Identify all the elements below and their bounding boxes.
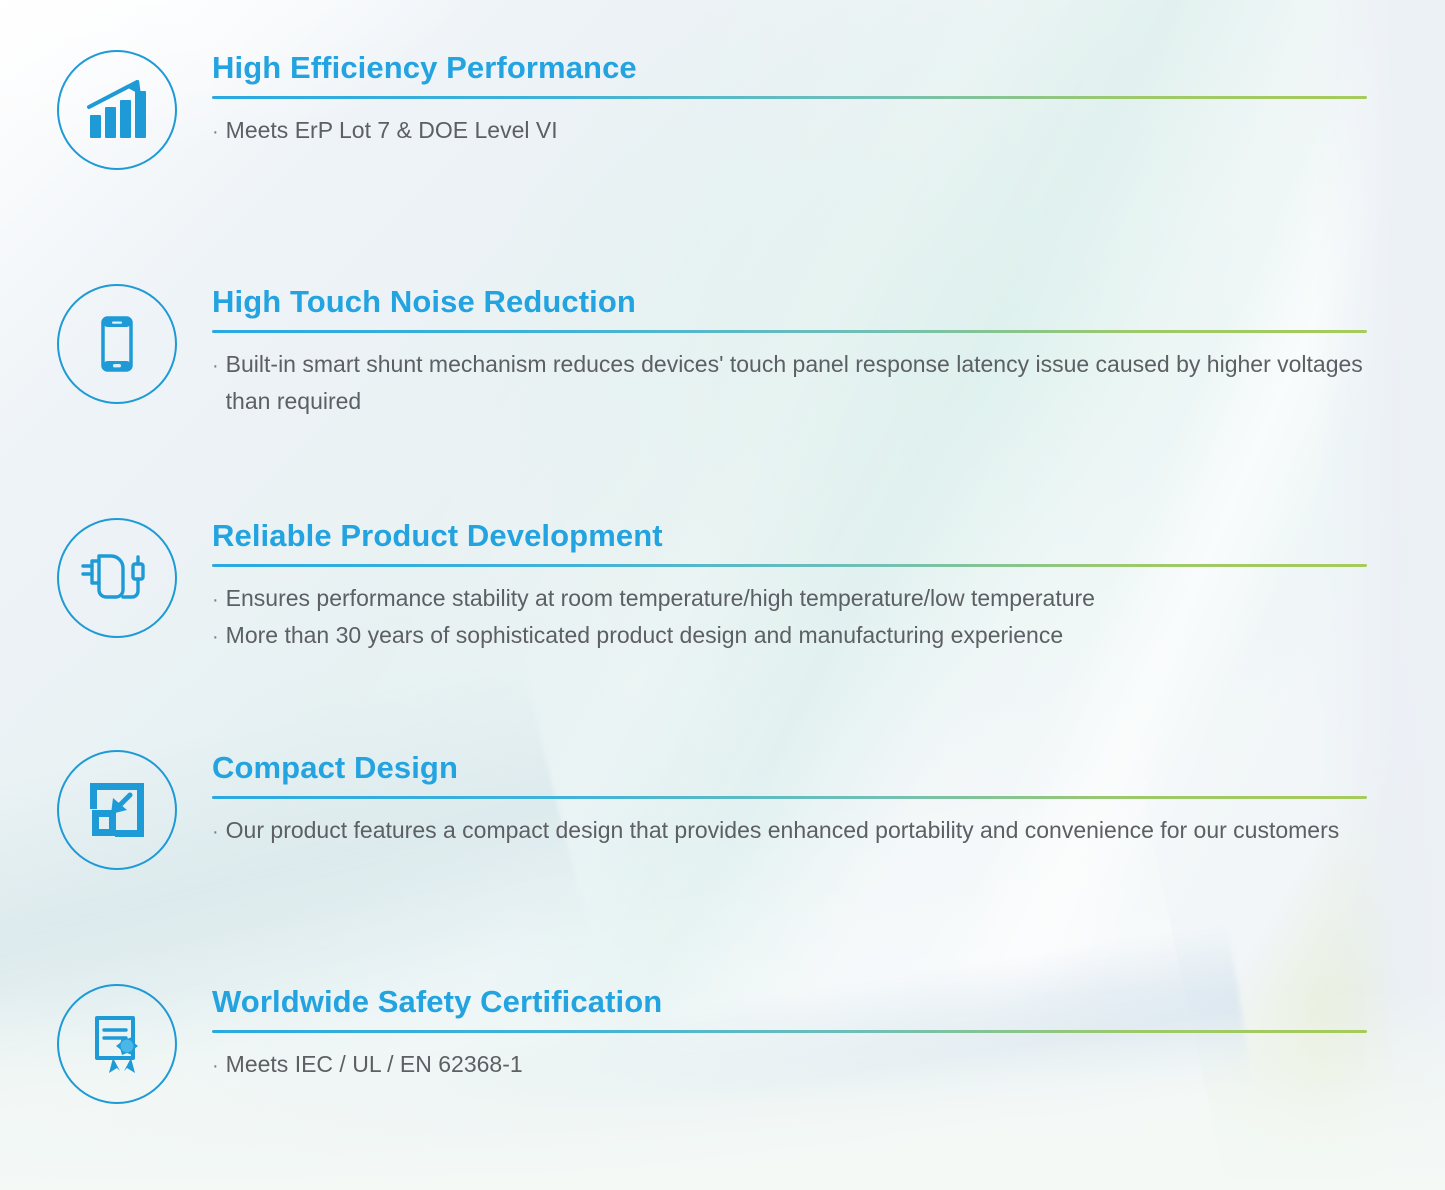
feature-bullet-list: · Meets ErP Lot 7 & DOE Level VI: [212, 112, 1367, 149]
feature-bullet-text: Meets ErP Lot 7 & DOE Level VI: [226, 112, 558, 149]
certificate-seal-icon: [57, 984, 177, 1104]
feature-bullet-list: · Meets IEC / UL / EN 62368-1: [212, 1046, 1367, 1083]
compact-resize-icon: [57, 750, 177, 870]
bullet-marker-icon: ·: [212, 350, 219, 382]
feature-bullet-text: Built-in smart shunt mechanism reduces d…: [226, 346, 1367, 421]
smartphone-icon: [57, 284, 177, 404]
feature-divider-rule: [212, 796, 1367, 799]
feature-title: Worldwide Safety Certification: [212, 984, 1367, 1020]
feature-bullet-line: · Ensures performance stability at room …: [212, 580, 1367, 617]
bullet-marker-icon: ·: [212, 116, 219, 148]
feature-bullet-line: · Our product features a compact design …: [212, 812, 1367, 849]
feature-bullet-line: · Meets IEC / UL / EN 62368-1: [212, 1046, 1367, 1083]
feature-bullet-line: · More than 30 years of sophisticated pr…: [212, 617, 1367, 654]
power-adapter-icon: [57, 518, 177, 638]
bullet-marker-icon: ·: [212, 584, 219, 616]
feature-bullet-text: Our product features a compact design th…: [226, 812, 1340, 849]
feature-icon-wrapper: [57, 750, 177, 870]
feature-icon-wrapper: [57, 984, 177, 1104]
feature-bullet-line: · Meets ErP Lot 7 & DOE Level VI: [212, 112, 1367, 149]
feature-body: Reliable Product Development · Ensures p…: [212, 518, 1367, 654]
feature-divider-rule: [212, 96, 1367, 99]
feature-divider-rule: [212, 1030, 1367, 1033]
feature-title: High Efficiency Performance: [212, 50, 1367, 86]
feature-bullet-text: Meets IEC / UL / EN 62368-1: [226, 1046, 523, 1083]
feature-title: Reliable Product Development: [212, 518, 1367, 554]
features-container: High Efficiency Performance · Meets ErP …: [0, 0, 1445, 1190]
bullet-marker-icon: ·: [212, 1050, 219, 1082]
feature-bullet-text: More than 30 years of sophisticated prod…: [226, 617, 1063, 654]
feature-title: High Touch Noise Reduction: [212, 284, 1367, 320]
feature-icon-wrapper: [57, 50, 177, 170]
feature-bullet-text: Ensures performance stability at room te…: [226, 580, 1095, 617]
feature-body: Worldwide Safety Certification · Meets I…: [212, 984, 1367, 1083]
feature-body: High Efficiency Performance · Meets ErP …: [212, 50, 1367, 149]
feature-icon-wrapper: [57, 518, 177, 638]
bar-chart-growth-icon: [57, 50, 177, 170]
feature-body: Compact Design · Our product features a …: [212, 750, 1367, 849]
feature-divider-rule: [212, 564, 1367, 567]
feature-title: Compact Design: [212, 750, 1367, 786]
feature-divider-rule: [212, 330, 1367, 333]
feature-body: High Touch Noise Reduction · Built-in sm…: [212, 284, 1367, 420]
feature-icon-wrapper: [57, 284, 177, 404]
bullet-marker-icon: ·: [212, 816, 219, 848]
feature-bullet-line: · Built-in smart shunt mechanism reduces…: [212, 346, 1367, 421]
feature-bullet-list: · Built-in smart shunt mechanism reduces…: [212, 346, 1367, 421]
feature-bullet-list: · Ensures performance stability at room …: [212, 580, 1367, 655]
feature-bullet-list: · Our product features a compact design …: [212, 812, 1367, 849]
feature-list-page: High Efficiency Performance · Meets ErP …: [0, 0, 1445, 1190]
bullet-marker-icon: ·: [212, 621, 219, 653]
